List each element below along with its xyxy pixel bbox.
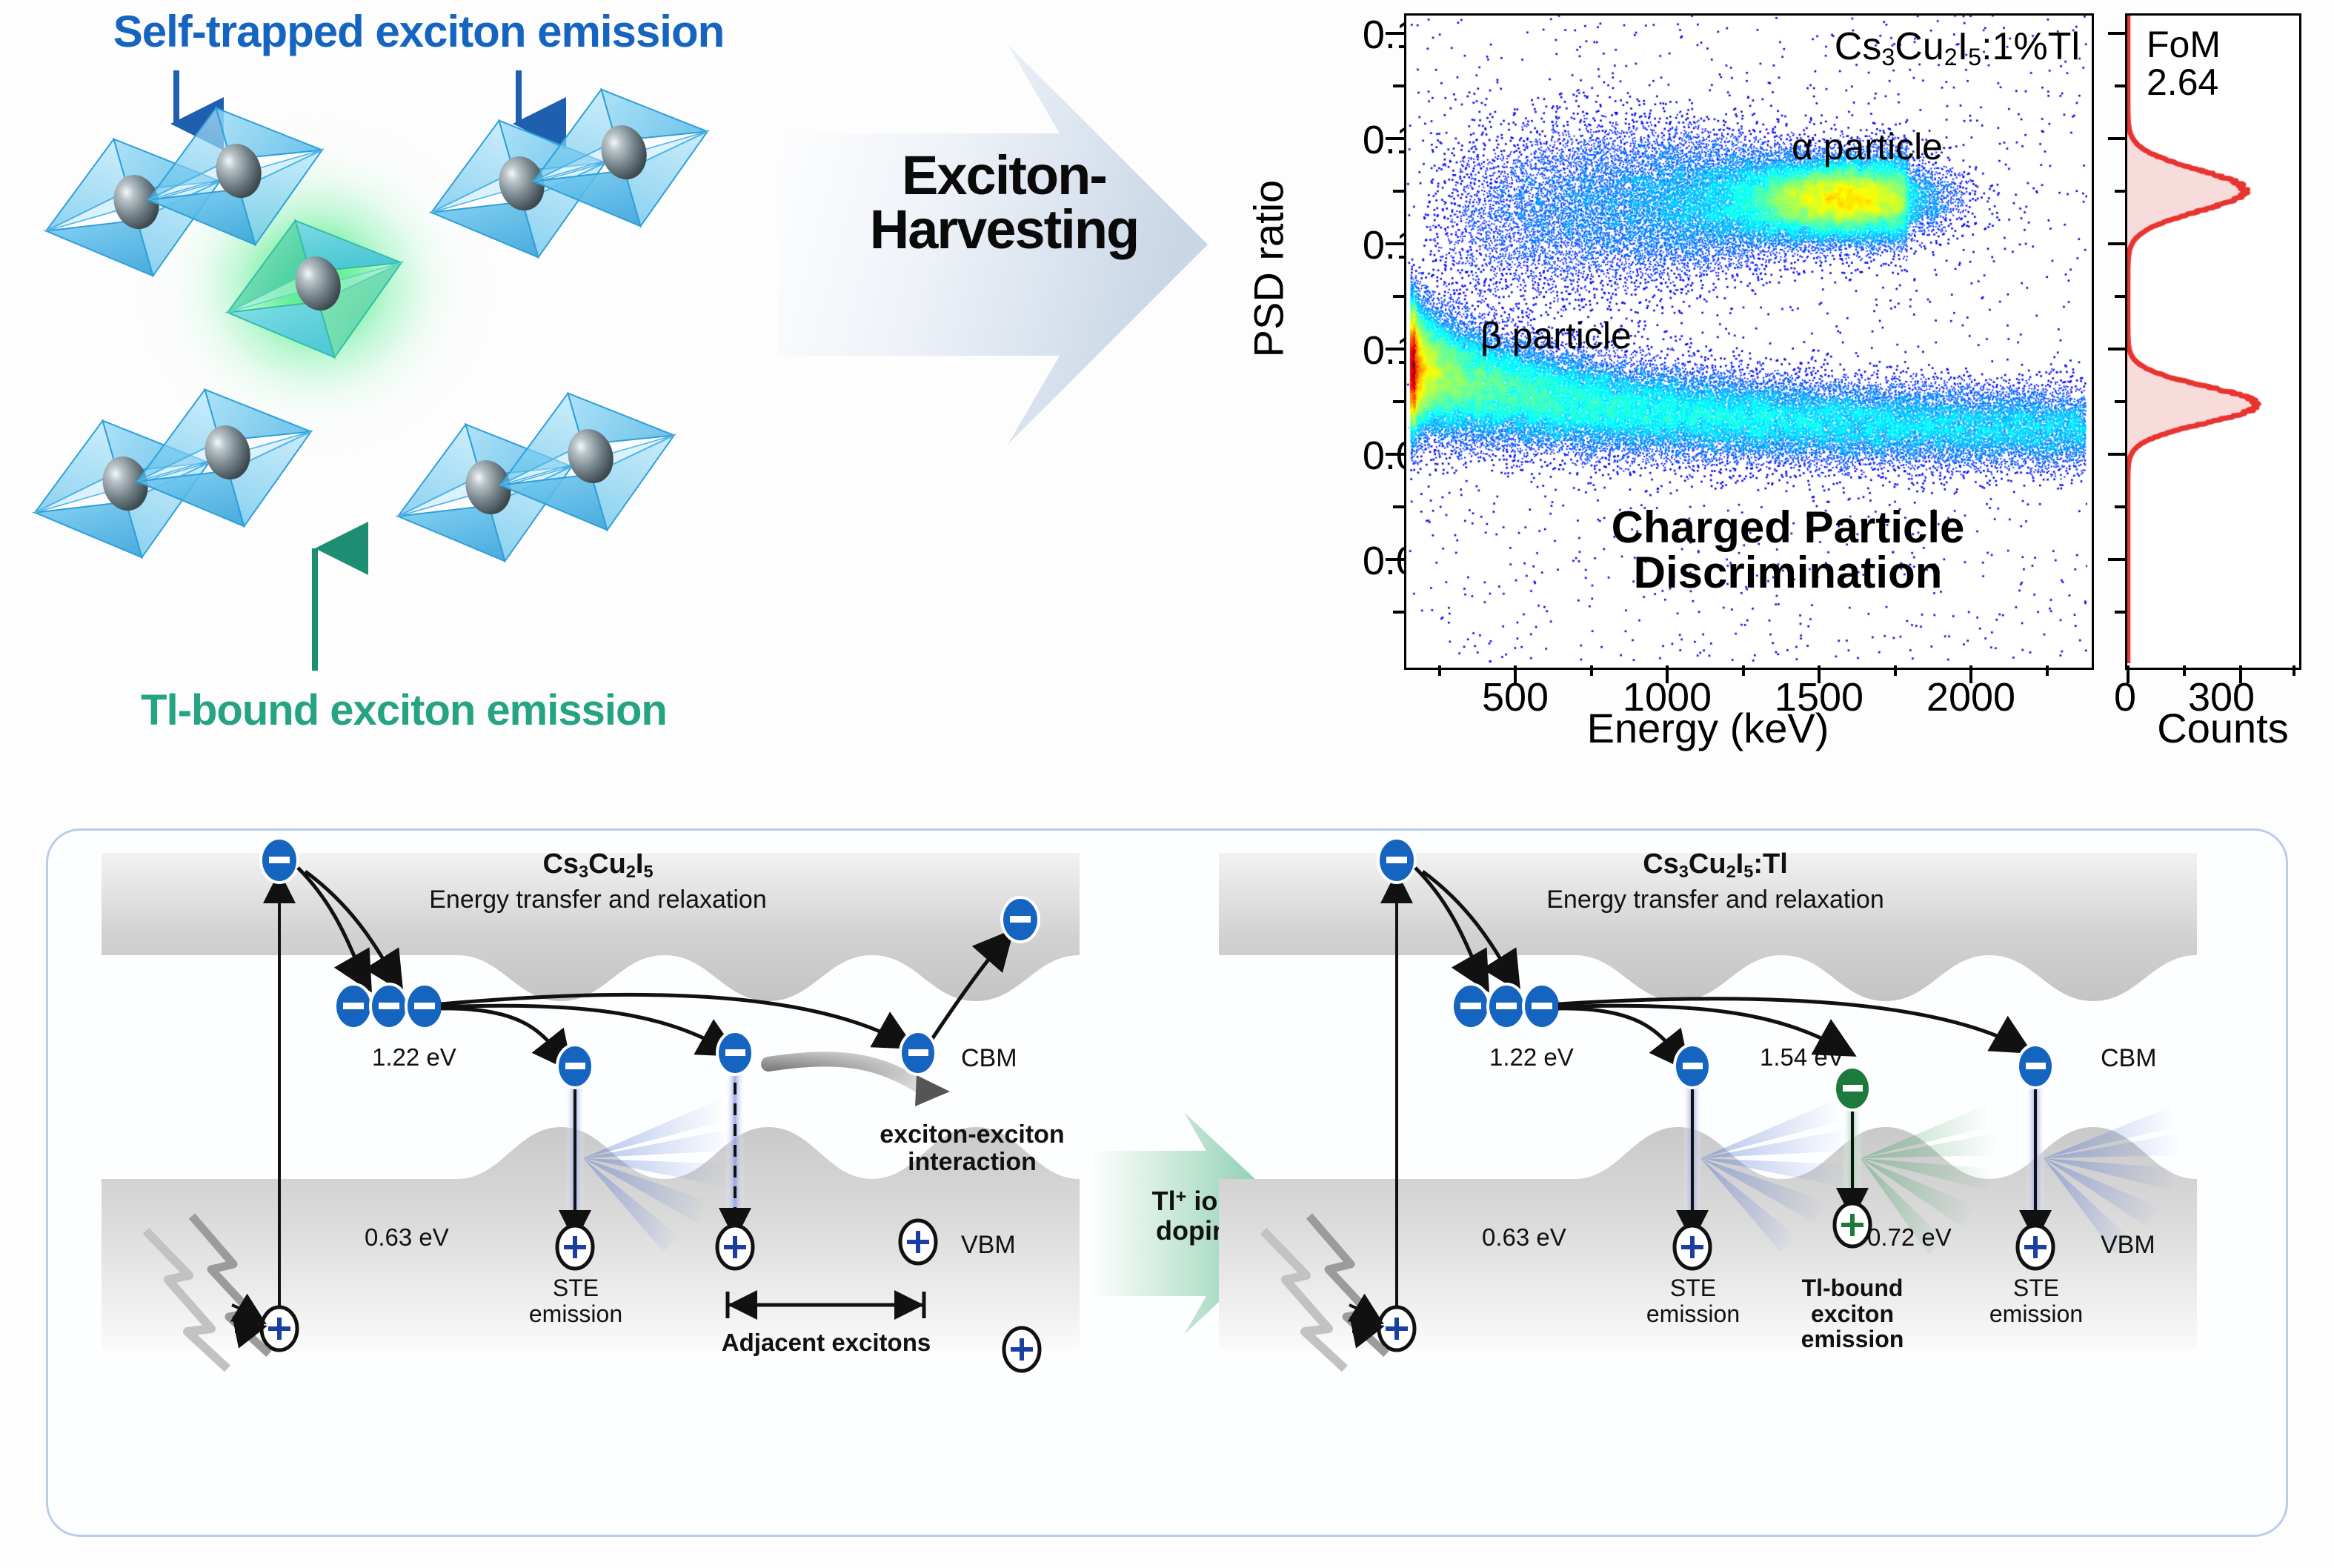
sample-composition-label: Cs3Cu2I5:1%Tl	[1835, 24, 2080, 71]
x-axis-label-energy: Energy (keV)	[1326, 704, 2089, 752]
ste-r2-line-2: emission	[1989, 1300, 2083, 1327]
ste-line-1: STE	[553, 1275, 599, 1301]
hole-free	[1004, 1328, 1040, 1371]
harvest-line-2: Harvesting	[870, 199, 1138, 260]
electron-top-right	[1378, 838, 1415, 883]
electron-ste-1	[557, 1045, 593, 1088]
band-right-subtitle: Energy transfer and relaxation	[1456, 886, 1975, 914]
hole-ste-r1	[1675, 1226, 1710, 1269]
cpd-line-1: Charged Particle	[1612, 502, 1965, 552]
fom-readout: FoM 2.64	[2147, 26, 2221, 102]
band-left-subtitle: Energy transfer and relaxation	[339, 886, 857, 914]
electron-ste-2	[717, 1032, 753, 1074]
counts-histogram-area: FoM 2.64	[2125, 13, 2301, 670]
electron-trio-right	[1452, 984, 1560, 1029]
crystal-structure-panel: Self-trapped exciton emission Tl-bound e…	[0, 0, 800, 808]
hole-bottom	[262, 1307, 297, 1350]
electron-top	[261, 838, 298, 883]
harvest-line-1: Exciton-	[902, 144, 1106, 206]
hole-ste-r2	[2018, 1226, 2053, 1269]
xx-line-1: exciton-exciton	[880, 1120, 1064, 1149]
electron-well-3	[900, 1032, 936, 1074]
tl-line-1: Tl-bound	[1802, 1275, 1904, 1301]
exciton-exciton-interaction-label: exciton-exciton interaction	[850, 1121, 1094, 1175]
hole-bottom-right	[1379, 1307, 1414, 1350]
ste-emission-label-right-1: STE emission	[1612, 1275, 1775, 1326]
ste-emission-label-right-2: STE emission	[1955, 1275, 2118, 1326]
exciton-harvesting-label: Exciton- Harvesting	[811, 148, 1197, 257]
psd-scatter-figure: PSD ratio 0.16 0.14 0.12 0.10 0.08 0.06 …	[1230, 0, 2334, 804]
adjacent-excitons-label: Adjacent excitons	[704, 1329, 948, 1357]
cbm-label-right: CBM	[2101, 1044, 2157, 1073]
energy-1.22-right: 1.22 eV	[1489, 1043, 1574, 1072]
tl-bound-emission-title: Tl-bound exciton emission	[30, 685, 778, 735]
band-right-graphics	[1174, 831, 2271, 1532]
ste-r2-line-1: STE	[2013, 1275, 2059, 1301]
tl-line-2: exciton	[1811, 1300, 1894, 1327]
x-axis-label-counts: Counts	[2112, 704, 2334, 752]
exciton-exciton-arrow	[768, 1059, 924, 1089]
charged-particle-discrimination-headline: Charged Particle Discrimination	[1492, 505, 2084, 595]
hole-tl-bound	[1835, 1203, 1870, 1246]
energy-0.63-right: 0.63 eV	[1482, 1223, 1566, 1252]
cpd-line-2: Discrimination	[1634, 548, 1943, 597]
band-diagram-panel: Cs3Cu2I5 Energy transfer and relaxation …	[46, 828, 2288, 1537]
ste-emission-label-left: STE emission	[494, 1275, 657, 1326]
tl-bound-emission-label-right: Tl-bound exciton emission	[1771, 1275, 1934, 1352]
ste-r1-line-2: emission	[1646, 1300, 1740, 1327]
alpha-particle-label: α particle	[1792, 125, 1943, 168]
electron-trio	[335, 984, 443, 1029]
energy-0.63-left: 0.63 eV	[365, 1223, 449, 1252]
hole-ste-2	[717, 1226, 753, 1269]
ste-line-2: emission	[529, 1300, 622, 1327]
band-left-title: Cs3Cu2I5	[376, 848, 820, 882]
cbm-label-left: CBM	[961, 1044, 1017, 1073]
electron-ste-r1	[1675, 1045, 1710, 1088]
beta-particle-label: β particle	[1480, 314, 1632, 357]
band-right-title: Cs3Cu2I5:Tl	[1493, 848, 1938, 882]
counts-histogram-canvas	[2127, 16, 2295, 663]
electron-escaping	[1002, 897, 1039, 942]
energy-1.22-left: 1.22 eV	[372, 1043, 456, 1072]
vbm-label-right: VBM	[2101, 1231, 2155, 1260]
vbm-label-left: VBM	[961, 1231, 1016, 1260]
ste-r1-line-1: STE	[1670, 1275, 1716, 1301]
tl-line-3: emission	[1801, 1326, 1904, 1352]
hole-well-3	[900, 1220, 936, 1263]
band-diagram-tl-doped: Cs3Cu2I5:Tl Energy transfer and relaxati…	[1174, 831, 2271, 1532]
electron-ste-r2	[2018, 1045, 2053, 1088]
ste-emission-title: Self-trapped exciton emission	[44, 6, 793, 57]
band-diagram-undoped: Cs3Cu2I5 Energy transfer and relaxation …	[57, 831, 1154, 1532]
band-left-graphics	[57, 831, 1154, 1532]
scatter-plot-area: Cs3Cu2I5:1%Tl α particle β particle Char…	[1404, 13, 2094, 670]
fom-title: FoM	[2147, 24, 2221, 65]
energy-0.72-right: 0.72 eV	[1867, 1223, 1952, 1252]
hole-ste-1	[557, 1226, 593, 1269]
xx-line-2: interaction	[908, 1148, 1037, 1176]
electron-tl-bound	[1835, 1067, 1870, 1110]
energy-1.54-right: 1.54 eV	[1760, 1043, 1844, 1072]
fom-value: 2.64	[2147, 62, 2218, 103]
